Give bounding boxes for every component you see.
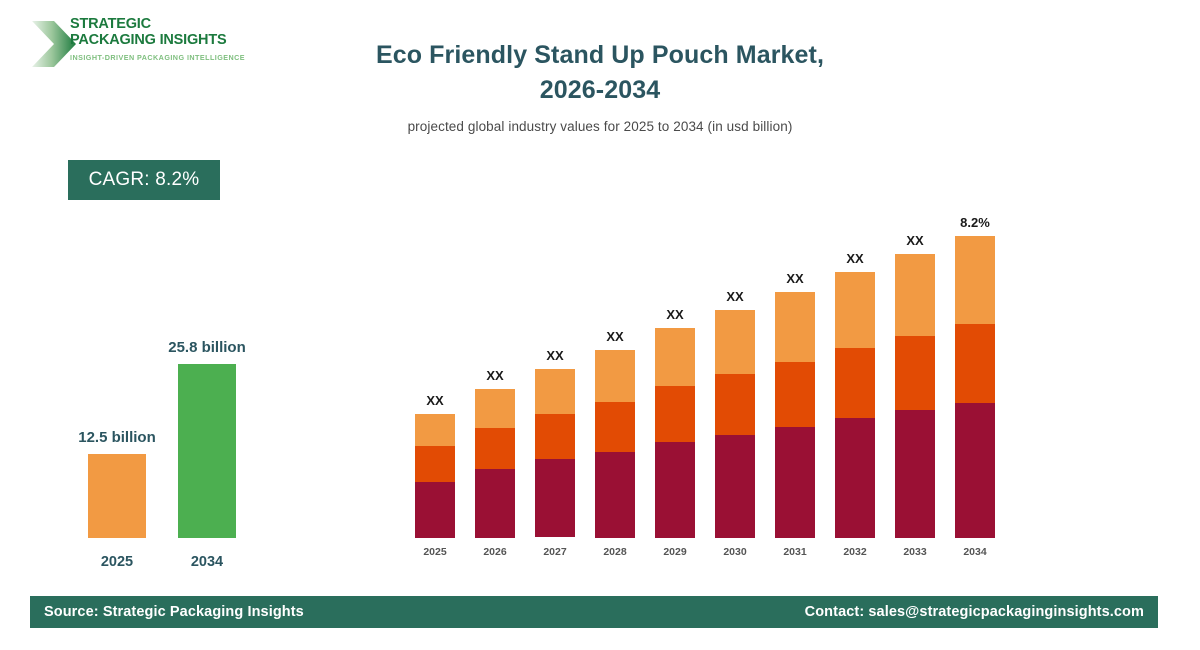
- stacked-bar: [955, 236, 995, 538]
- stacked-segment-segment-1: [955, 403, 995, 538]
- stacked-column: XX2030: [715, 190, 755, 580]
- market-size-comparison-chart: 12.5 billion202525.8 billion2034: [40, 300, 300, 580]
- stacked-segment-segment-2: [415, 446, 455, 482]
- stacked-column: XX2029: [655, 190, 695, 580]
- stacked-value-label: XX: [465, 368, 525, 383]
- stacked-value-label: XX: [705, 289, 765, 304]
- stacked-segment-segment-2: [475, 428, 515, 469]
- stacked-column: XX2032: [835, 190, 875, 580]
- page-title: Eco Friendly Stand Up Pouch Market, 2026…: [300, 38, 900, 134]
- stacked-value-label: XX: [825, 251, 885, 266]
- stacked-segment-segment-2: [895, 336, 935, 410]
- stacked-column: XX2027: [535, 190, 575, 580]
- stacked-bar: [715, 310, 755, 538]
- comparison-year-label: 2034: [167, 554, 247, 570]
- brand-tagline: INSIGHT-DRIVEN PACKAGING INTELLIGENCE: [70, 53, 255, 62]
- footer-source: Source: Strategic Packaging Insights: [44, 604, 304, 620]
- brand-logo: STRATEGIC PACKAGING INSIGHTS INSIGHT-DRI…: [30, 14, 230, 76]
- stacked-segment-segment-3: [475, 389, 515, 428]
- stacked-segment-segment-3: [595, 350, 635, 402]
- stacked-segment-segment-3: [535, 369, 575, 414]
- stacked-value-label: XX: [525, 348, 585, 363]
- stacked-segment-segment-2: [835, 348, 875, 418]
- stacked-value-label: XX: [765, 271, 825, 286]
- stacked-value-label: 8.2%: [945, 215, 1005, 230]
- stacked-segment-segment-1: [835, 418, 875, 538]
- yearly-stacked-forecast-chart: XX2025XX2026XX2027XX2028XX2029XX2030XX20…: [405, 190, 1015, 580]
- stacked-segment-segment-2: [775, 362, 815, 427]
- stacked-column: 8.2%2034: [955, 190, 995, 580]
- brand-name-line1: STRATEGIC: [70, 16, 255, 32]
- stacked-year-label: 2026: [465, 546, 525, 558]
- stacked-segment-segment-1: [535, 459, 575, 537]
- comparison-column: 25.8 billion2034: [178, 300, 236, 580]
- stacked-segment-segment-3: [895, 254, 935, 336]
- stacked-segment-segment-2: [595, 402, 635, 452]
- stacked-year-label: 2031: [765, 546, 825, 558]
- brand-name-line2: PACKAGING INSIGHTS: [70, 32, 255, 48]
- stacked-year-label: 2034: [945, 546, 1005, 558]
- title-line-2: 2026-2034: [300, 73, 900, 108]
- stacked-bar: [535, 369, 575, 538]
- page-subtitle: projected global industry values for 202…: [300, 119, 900, 134]
- title-line-1: Eco Friendly Stand Up Pouch Market,: [300, 38, 900, 73]
- comparison-bar: [88, 454, 146, 538]
- stacked-segment-segment-1: [715, 435, 755, 538]
- stacked-bar: [415, 414, 455, 538]
- footer-bar: Source: Strategic Packaging Insights Con…: [30, 596, 1158, 628]
- stacked-segment-segment-1: [595, 452, 635, 538]
- stacked-value-label: XX: [405, 393, 465, 408]
- stacked-bar: [595, 350, 635, 538]
- stacked-year-label: 2032: [825, 546, 885, 558]
- stacked-segment-segment-2: [955, 324, 995, 403]
- stacked-year-label: 2027: [525, 546, 585, 558]
- stacked-year-label: 2025: [405, 546, 465, 558]
- stacked-column: XX2033: [895, 190, 935, 580]
- stacked-value-label: XX: [585, 329, 645, 344]
- comparison-value-label: 12.5 billion: [37, 429, 197, 446]
- stacked-bar: [775, 292, 815, 538]
- stacked-bar: [655, 328, 695, 538]
- stacked-bar: [475, 389, 515, 538]
- stacked-segment-segment-1: [475, 469, 515, 538]
- stacked-column: XX2025: [415, 190, 455, 580]
- stacked-segment-segment-1: [895, 410, 935, 538]
- brand-wordmark: STRATEGIC PACKAGING INSIGHTS INSIGHT-DRI…: [70, 16, 255, 62]
- stacked-segment-segment-2: [715, 374, 755, 435]
- stacked-segment-segment-2: [655, 386, 695, 442]
- stacked-year-label: 2030: [705, 546, 765, 558]
- footer-contact: Contact: sales@strategicpackaginginsight…: [805, 604, 1144, 620]
- stacked-column: XX2028: [595, 190, 635, 580]
- stacked-segment-segment-3: [715, 310, 755, 374]
- stacked-year-label: 2033: [885, 546, 945, 558]
- stacked-column: XX2031: [775, 190, 815, 580]
- stacked-bar: [895, 254, 935, 538]
- stacked-column: XX2026: [475, 190, 515, 580]
- stacked-segment-segment-1: [655, 442, 695, 538]
- stacked-segment-segment-3: [655, 328, 695, 386]
- stacked-segment-segment-3: [775, 292, 815, 362]
- stacked-segment-segment-3: [835, 272, 875, 348]
- comparison-bar: [178, 364, 236, 538]
- stacked-year-label: 2029: [645, 546, 705, 558]
- cagr-badge: CAGR: 8.2%: [68, 160, 220, 200]
- stacked-value-label: XX: [645, 307, 705, 322]
- stacked-year-label: 2028: [585, 546, 645, 558]
- stacked-segment-segment-3: [415, 414, 455, 446]
- comparison-year-label: 2025: [77, 554, 157, 570]
- stacked-segment-segment-1: [415, 482, 455, 538]
- stacked-segment-segment-3: [955, 236, 995, 324]
- comparison-value-label: 25.8 billion: [127, 339, 287, 356]
- stacked-segment-segment-1: [775, 427, 815, 538]
- stacked-segment-segment-2: [535, 414, 575, 459]
- cagr-label: CAGR: 8.2%: [89, 169, 200, 191]
- stacked-value-label: XX: [885, 233, 945, 248]
- stacked-bar: [835, 272, 875, 538]
